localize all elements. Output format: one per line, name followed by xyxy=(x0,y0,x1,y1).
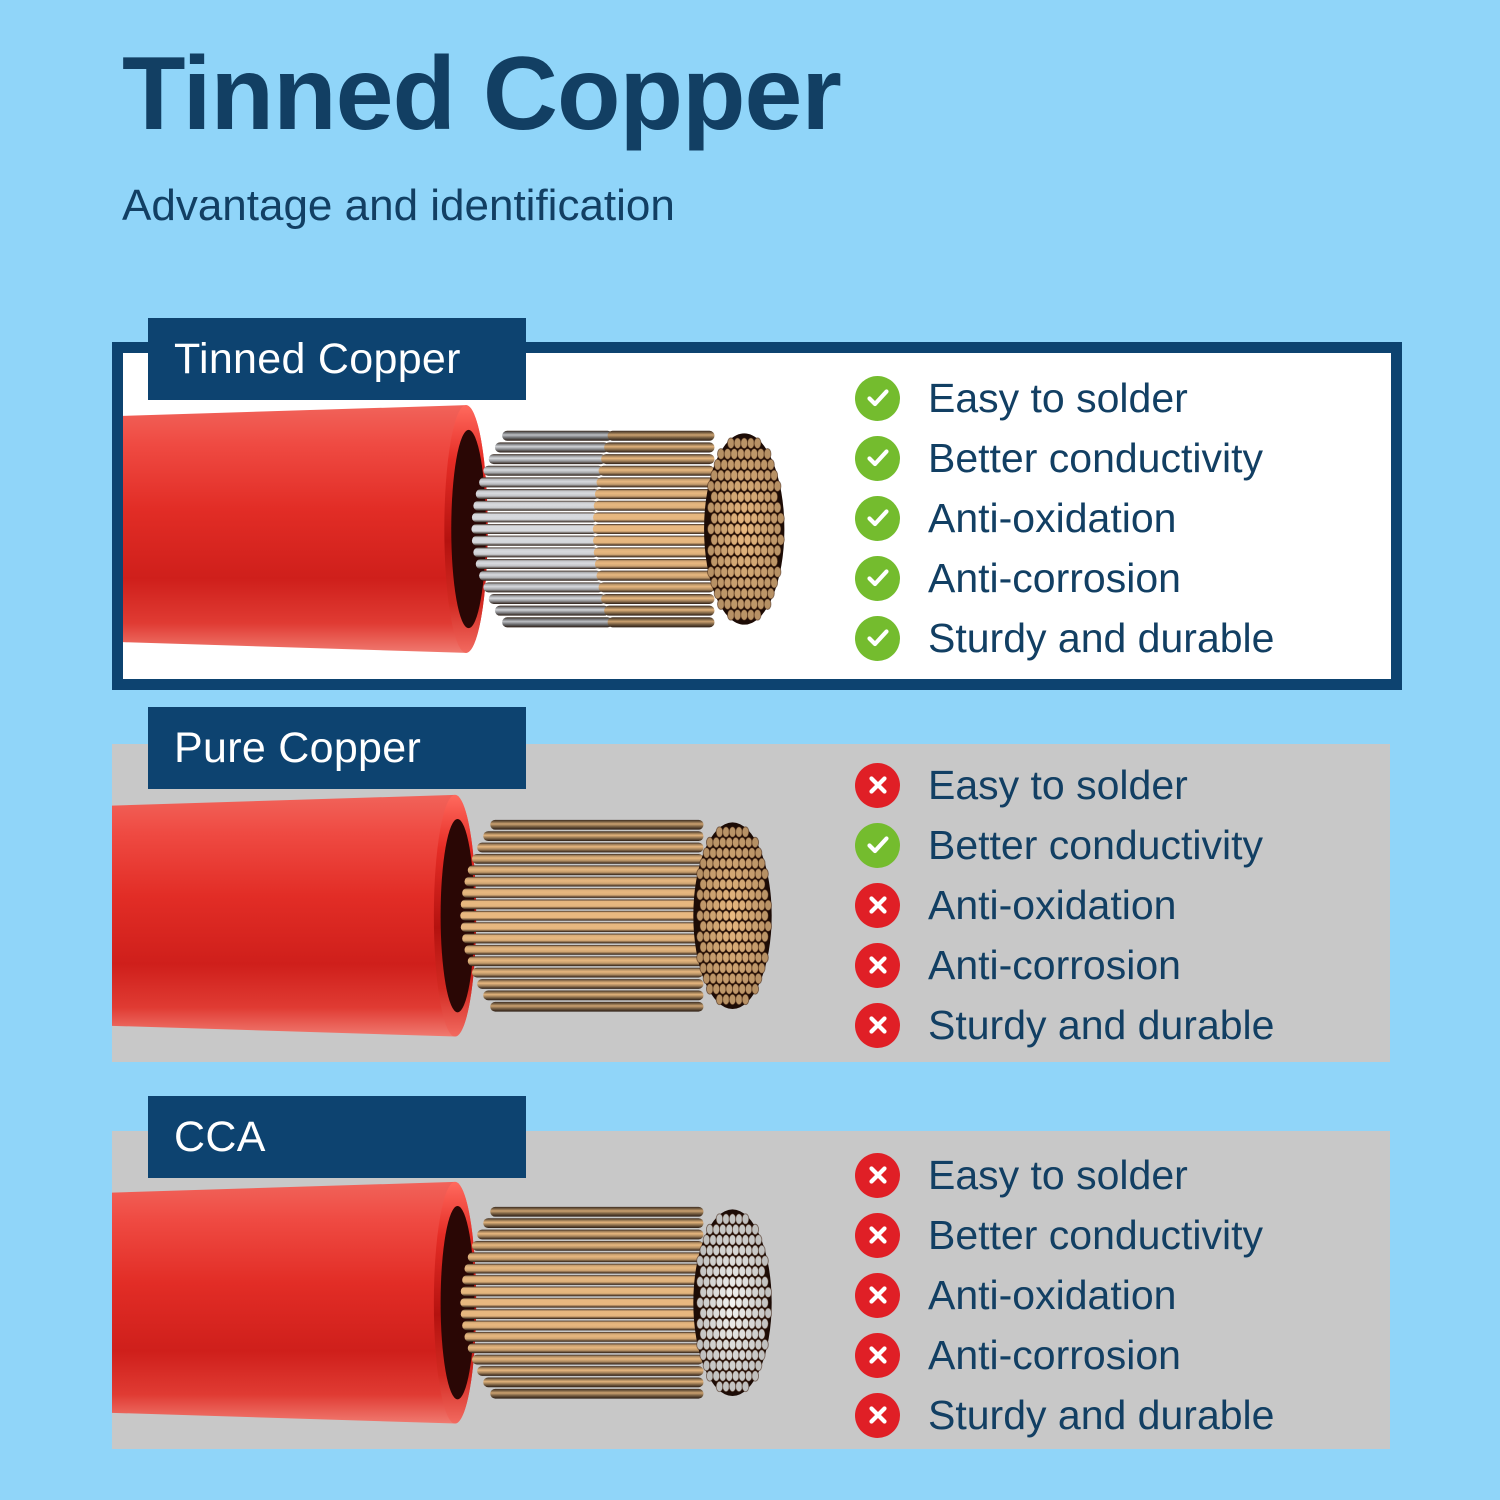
page-title: Tinned Copper xyxy=(122,40,1422,149)
pure-copper-wire-image xyxy=(112,744,812,1062)
cross-icon xyxy=(855,1213,900,1258)
feature-label: Anti-corrosion xyxy=(928,555,1181,602)
feature-row: Sturdy and durable xyxy=(855,1385,1274,1445)
tinned-copper-wire-image xyxy=(123,353,823,679)
wire-cross-section xyxy=(693,822,771,1009)
cross-icon xyxy=(855,883,900,928)
feature-row: Better conductivity xyxy=(855,428,1274,488)
feature-row: Anti-oxidation xyxy=(855,488,1274,548)
cca-wire xyxy=(112,1131,812,1449)
feature-row: Anti-corrosion xyxy=(855,935,1274,995)
feature-label: Better conductivity xyxy=(928,435,1263,482)
cross-icon xyxy=(855,1333,900,1378)
feature-label: Anti-corrosion xyxy=(928,1332,1181,1379)
feature-label: Sturdy and durable xyxy=(928,1002,1274,1049)
feature-list-cca: Easy to solderBetter conductivityAnti-ox… xyxy=(855,1145,1274,1445)
feature-row: Anti-oxidation xyxy=(855,1265,1274,1325)
feature-row: Sturdy and durable xyxy=(855,608,1274,668)
check-icon xyxy=(855,616,900,661)
feature-label: Sturdy and durable xyxy=(928,1392,1274,1439)
panel-badge-tinned-copper: Tinned Copper xyxy=(148,318,526,400)
tinned-copper-wire xyxy=(123,353,823,679)
feature-row: Anti-oxidation xyxy=(855,875,1274,935)
wire-jacket xyxy=(112,1182,476,1424)
feature-list-tinned-copper: Easy to solderBetter conductivityAnti-ox… xyxy=(855,368,1274,668)
check-icon xyxy=(855,496,900,541)
feature-label: Easy to solder xyxy=(928,1152,1188,1199)
feature-label: Easy to solder xyxy=(928,375,1188,422)
feature-label: Anti-oxidation xyxy=(928,882,1176,929)
feature-row: Easy to solder xyxy=(855,755,1274,815)
cross-icon xyxy=(855,943,900,988)
cca-wire-image xyxy=(112,1131,812,1449)
page-subtitle: Advantage and identification xyxy=(122,149,1422,231)
pure-copper-wire xyxy=(112,744,812,1062)
wire-jacket xyxy=(112,795,476,1037)
feature-label: Easy to solder xyxy=(928,762,1188,809)
cross-icon xyxy=(855,1153,900,1198)
feature-row: Better conductivity xyxy=(855,1205,1274,1265)
cross-icon xyxy=(855,1393,900,1438)
feature-row: Anti-corrosion xyxy=(855,548,1274,608)
feature-row: Sturdy and durable xyxy=(855,995,1274,1055)
feature-row: Anti-corrosion xyxy=(855,1325,1274,1385)
cross-icon xyxy=(855,1273,900,1318)
feature-label: Anti-oxidation xyxy=(928,495,1176,542)
wire-strands xyxy=(460,820,703,1012)
panel-badge-cca: CCA xyxy=(148,1096,526,1178)
feature-row: Better conductivity xyxy=(855,815,1274,875)
wire-strands xyxy=(471,431,714,628)
header: Tinned Copper Advantage and identificati… xyxy=(122,40,1422,231)
wire-strands xyxy=(460,1207,703,1399)
check-icon xyxy=(855,556,900,601)
panel-badge-pure-copper: Pure Copper xyxy=(148,707,526,789)
cross-icon xyxy=(855,763,900,808)
wire-jacket xyxy=(123,405,488,653)
feature-label: Anti-oxidation xyxy=(928,1272,1176,1319)
cross-icon xyxy=(855,1003,900,1048)
feature-label: Sturdy and durable xyxy=(928,615,1274,662)
feature-label: Better conductivity xyxy=(928,1212,1263,1259)
feature-row: Easy to solder xyxy=(855,1145,1274,1205)
feature-label: Anti-corrosion xyxy=(928,942,1181,989)
feature-row: Easy to solder xyxy=(855,368,1274,428)
check-icon xyxy=(855,823,900,868)
check-icon xyxy=(855,436,900,481)
feature-label: Better conductivity xyxy=(928,822,1263,869)
wire-cross-section xyxy=(693,1209,771,1396)
feature-list-pure-copper: Easy to solderBetter conductivityAnti-ox… xyxy=(855,755,1274,1055)
check-icon xyxy=(855,376,900,421)
wire-cross-section xyxy=(704,433,784,624)
